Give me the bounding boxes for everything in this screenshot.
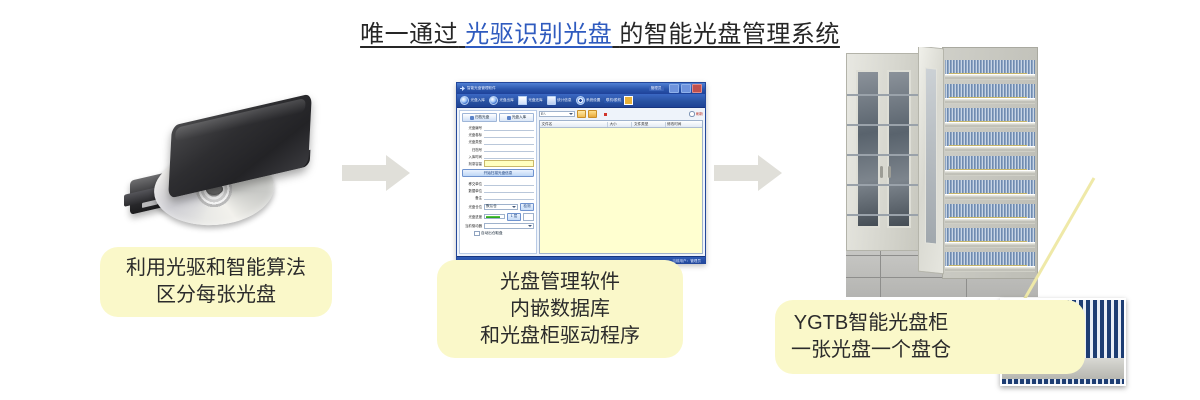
archive-number-input[interactable]	[484, 146, 534, 152]
toolbar-label: 统计信息	[557, 98, 571, 103]
report-icon	[547, 96, 556, 105]
shelf-rail	[945, 122, 1035, 128]
current-user-label: 管理员	[649, 86, 664, 91]
disc-shelf	[945, 60, 1035, 80]
tab-disc-in[interactable]: 光盘入库	[499, 113, 534, 122]
disc-progress-bar	[484, 214, 505, 219]
transfer-unit-input[interactable]	[484, 180, 534, 186]
layer-value: 1 层	[507, 213, 521, 221]
caption-center-line1: 光盘管理软件	[480, 269, 640, 296]
caption-center-line3: 和光盘柜驱动程序	[480, 323, 640, 350]
disc-shelf	[945, 108, 1035, 128]
disc-in-icon	[460, 96, 469, 105]
door-handle	[880, 166, 883, 178]
field-disc-number[interactable]: 光盘编号	[462, 125, 534, 131]
disc-shelf	[945, 132, 1035, 152]
cabinet-closed-doors	[846, 53, 924, 251]
caption-right-text: YGTB智能光盘柜 一张光盘一个盘仓	[791, 310, 951, 364]
field-transfer-unit[interactable]: 移交单位	[462, 180, 534, 186]
field-label: 光盘仓位	[462, 204, 482, 209]
folder-up-icon[interactable]	[577, 110, 586, 118]
field-label: 入库时间	[462, 154, 482, 159]
slot-position-select[interactable]: 默认仓	[484, 204, 518, 210]
page-title: 唯一通过 光驱识别光盘 的智能光盘管理系统	[0, 14, 1200, 49]
file-browser-toolbar[interactable]: E:\ 刷新	[539, 110, 703, 118]
file-browser-panel[interactable]: E:\ 刷新 文件名 大小 文件类型 修改时间	[539, 110, 703, 254]
radio-circle[interactable]	[689, 111, 695, 117]
door-handle	[888, 166, 891, 178]
tab-archived-disc[interactable]: 归档光盘	[462, 113, 497, 122]
caption-left: 利用光驱和智能算法 区分每张光盘	[100, 247, 332, 317]
disc-volume-input[interactable]	[484, 132, 534, 138]
stop-icon[interactable]	[604, 113, 607, 116]
field-current-drive[interactable]: 当前驱动器	[462, 223, 534, 229]
app-title-text: 智能光盘管理软件	[467, 86, 496, 91]
caption-left-line2: 区分每张光盘	[126, 282, 306, 309]
arrow-right-icon	[714, 155, 782, 191]
scan-disc-button[interactable]: 开始扫描光盘信息	[462, 169, 534, 178]
refresh-radio[interactable]: 刷新	[689, 111, 703, 117]
slot-position-value: 默认仓	[486, 204, 497, 209]
tab-label: 光盘入库	[512, 115, 526, 120]
caption-right: YGTB智能光盘柜 一张光盘一个盘仓	[775, 300, 1085, 374]
gear-icon	[576, 96, 585, 105]
app-titlebar: 智能光盘管理软件 管理员	[457, 83, 705, 94]
column-header-size[interactable]: 大小	[608, 122, 632, 127]
shelf-rail	[945, 98, 1035, 104]
toolbar-item-statistics[interactable]: 统计信息	[547, 96, 572, 105]
layer-stepper[interactable]	[523, 213, 534, 221]
shelf-rail	[945, 74, 1035, 80]
disc-shelf	[945, 84, 1035, 104]
toolbar-item-connection[interactable]: 联机/脱机	[604, 96, 633, 105]
link-icon	[624, 96, 633, 105]
field-disc-volume[interactable]: 光盘卷标	[462, 132, 534, 138]
field-label: 当前驱动器	[462, 223, 482, 228]
disc-cabinet-photo	[846, 47, 1038, 297]
checkbox-box[interactable]	[474, 231, 480, 237]
field-burn-capacity[interactable]: 刻录容量	[462, 160, 534, 167]
field-label: 光盘进度	[462, 214, 482, 219]
bottom-disc-strip	[1002, 379, 1126, 384]
field-remark[interactable]: 备注	[462, 195, 534, 201]
toolbar-label: 系统设置	[586, 98, 600, 103]
field-disc-progress: 光盘进度 1 层	[462, 213, 534, 221]
left-form-panel[interactable]: 归档光盘 光盘入库 光盘编号 光盘卷标 光盘类型 归档号 入库时间 刻录容量 开…	[459, 110, 537, 254]
disc-out-icon	[489, 96, 498, 105]
field-label: 光盘编号	[462, 125, 482, 130]
caption-left-line1: 利用光驱和智能算法	[126, 255, 306, 282]
toolbar-item-settings[interactable]: 系统设置	[576, 96, 601, 105]
current-drive-select[interactable]	[484, 223, 534, 229]
toolbar-label: 联机/脱机	[604, 98, 622, 103]
chevron-down-icon	[512, 206, 516, 208]
field-data-unit[interactable]: 数据单位	[462, 188, 534, 194]
app-toolbar[interactable]: 光盘入库 光盘出库 光盘还库 统计信息 系统设置 联机/脱机	[457, 94, 705, 108]
data-unit-input[interactable]	[484, 188, 534, 194]
external-dvd-drive-photo	[122, 108, 327, 223]
folder-icon[interactable]	[588, 110, 597, 118]
toolbar-item-disc-in[interactable]: 光盘入库	[460, 96, 485, 105]
title-highlight: 光驱识别光盘	[465, 21, 612, 48]
path-select[interactable]: E:\	[539, 111, 575, 117]
disc-app-icon	[460, 86, 465, 91]
shelf-rail	[945, 146, 1035, 152]
caption-left-text: 利用光驱和智能算法 区分每张光盘	[126, 255, 306, 309]
column-header-modified[interactable]: 修改时间	[666, 122, 702, 127]
auto-eject-checkbox[interactable]: 自动出仓取盘	[462, 231, 534, 237]
caption-right-line2: 一张光盘一个盘仓	[791, 337, 951, 364]
disc-shelf	[945, 156, 1035, 176]
field-label: 备注	[462, 195, 482, 200]
caption-center: 光盘管理软件 内嵌数据库 和光盘柜驱动程序	[437, 260, 683, 358]
scan-disc-button-label: 开始扫描光盘信息	[484, 171, 513, 176]
slide-canvas: 唯一通过 光驱识别光盘 的智能光盘管理系统 智能光盘管理软件 管理员 光盘入库 …	[0, 0, 1200, 400]
close-button[interactable]	[692, 84, 702, 93]
shelf-line	[847, 214, 923, 216]
field-archive-number[interactable]: 归档号	[462, 146, 534, 152]
field-label: 移交单位	[462, 181, 482, 186]
caption-right-line1: YGTB智能光盘柜	[791, 310, 951, 337]
app-body: 归档光盘 光盘入库 光盘编号 光盘卷标 光盘类型 归档号 入库时间 刻录容量 开…	[457, 108, 705, 256]
column-header-filename[interactable]: 文件名	[540, 122, 608, 127]
field-disc-type[interactable]: 光盘类型	[462, 139, 534, 145]
arrow-right-icon	[342, 155, 410, 191]
archive-icon	[470, 116, 474, 120]
chevron-down-icon	[528, 225, 532, 227]
minimize-button[interactable]	[669, 84, 679, 93]
callout-connector-line	[1018, 176, 1098, 302]
field-in-time[interactable]: 入库时间	[462, 153, 534, 159]
field-label: 光盘卷标	[462, 132, 482, 137]
tab-label: 归档光盘	[475, 115, 489, 120]
field-label: 刻录容量	[462, 161, 482, 166]
title-part-before: 唯一通过	[360, 21, 458, 48]
file-list-grid[interactable]: 文件名 大小 文件类型 修改时间	[539, 120, 703, 254]
shelf-line	[847, 154, 923, 156]
caption-center-line2: 内嵌数据库	[480, 296, 640, 323]
field-label: 归档号	[462, 147, 482, 152]
burn-capacity-input[interactable]	[484, 160, 534, 167]
toolbar-label: 光盘入库	[471, 98, 485, 103]
glass-pane	[925, 67, 937, 244]
cabinet-open-glass-door	[918, 47, 944, 274]
left-panel-tabs[interactable]: 归档光盘 光盘入库	[462, 113, 534, 122]
column-header-filetype[interactable]: 文件类型	[632, 122, 665, 127]
tile-line	[880, 245, 881, 297]
field-label: 数据单位	[462, 188, 482, 193]
shelf-line	[847, 124, 923, 126]
checkbox-label: 自动出仓取盘	[481, 231, 503, 236]
toolbar-item-disc-return[interactable]: 光盘还库	[518, 96, 543, 105]
disc-number-input[interactable]	[484, 125, 534, 131]
toolbar-label: 光盘还库	[528, 98, 542, 103]
title-part-after: 的智能光盘管理系统	[619, 21, 840, 48]
toolbar-item-disc-out[interactable]: 光盘出库	[489, 96, 514, 105]
detect-button[interactable]: 检测	[520, 203, 534, 211]
disc-type-input[interactable]	[484, 139, 534, 145]
path-value: E:\	[541, 112, 545, 116]
disc-return-icon	[518, 96, 527, 105]
chevron-down-icon	[569, 113, 573, 115]
in-time-input[interactable]	[484, 153, 534, 159]
refresh-label: 刷新	[696, 112, 703, 117]
shelf-line	[847, 94, 923, 96]
shelf-line	[847, 184, 923, 186]
disc-in-icon	[507, 116, 511, 120]
field-slot-position[interactable]: 光盘仓位 默认仓 检测	[462, 203, 534, 211]
file-list-header: 文件名 大小 文件类型 修改时间	[540, 121, 702, 128]
field-label: 光盘类型	[462, 139, 482, 144]
progress-fill	[486, 216, 500, 218]
toolbar-label: 光盘出库	[499, 98, 513, 103]
statusbar-text: 当前用户：管理员	[672, 259, 701, 264]
disc-management-software-window[interactable]: 智能光盘管理软件 管理员 光盘入库 光盘出库 光盘还库 统计信息 系统设置 联机…	[456, 82, 706, 264]
remark-input[interactable]	[484, 195, 534, 201]
caption-center-text: 光盘管理软件 内嵌数据库 和光盘柜驱动程序	[480, 269, 640, 350]
maximize-button[interactable]	[681, 84, 691, 93]
